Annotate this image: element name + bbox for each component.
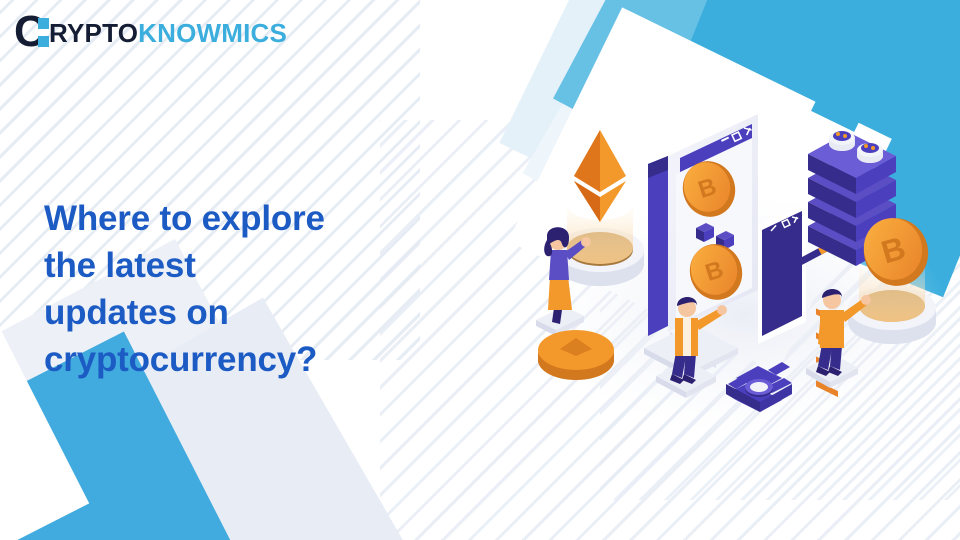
brand-logo[interactable]: C RYPTOKNOWMICS — [14, 12, 287, 54]
ethereum-diamond-icon — [574, 130, 626, 222]
logo-square-accent-top-icon — [38, 18, 49, 29]
server-top-coin-stack-2 — [857, 143, 883, 163]
logo-c-mark-icon: C — [14, 12, 48, 54]
dark-window-panel — [758, 204, 806, 344]
logo-square-accent-bottom-icon — [38, 36, 49, 47]
logo-word-knowmics: KNOWMICS — [138, 18, 287, 48]
headline-line-4: cryptocurrency? — [44, 336, 444, 383]
logo-wordmark: RYPTOKNOWMICS — [49, 18, 287, 48]
headline-line-2: the latest — [44, 242, 444, 289]
server-top-coin-stack-1 — [829, 131, 855, 151]
promo-banner: C RYPTOKNOWMICS Where to explore the lat… — [0, 0, 960, 540]
crypto-illustration: B B — [520, 100, 960, 440]
headline-line-1: Where to explore — [44, 195, 444, 242]
ethereum-coin-flat — [538, 330, 614, 380]
logo-word-crypto: RYPTO — [49, 18, 138, 48]
headline-line-3: updates on — [44, 289, 444, 336]
page-title: Where to explore the latest updates on c… — [44, 195, 444, 383]
